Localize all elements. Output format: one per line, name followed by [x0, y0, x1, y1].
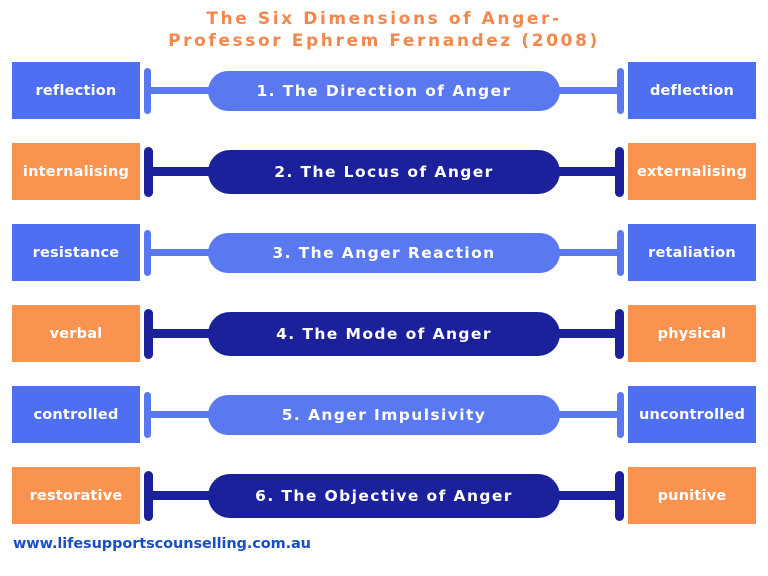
dimension-pill: 1. The Direction of Anger: [208, 71, 560, 111]
dimension-scale: 3. The Anger Reaction: [144, 224, 624, 281]
dimension-row: internalising2. The Locus of Angerextern…: [0, 143, 768, 200]
dimension-pill: 4. The Mode of Anger: [208, 312, 560, 356]
dimension-pill-label: 1. The Direction of Anger: [257, 82, 512, 100]
footer: www.lifesupportscounselling.com.au: [13, 536, 311, 552]
right-pole-box: punitive: [628, 467, 756, 524]
dimension-row: verbal4. The Mode of Angerphysical: [0, 305, 768, 362]
left-pole-label: restorative: [30, 488, 123, 504]
dimension-pill: 3. The Anger Reaction: [208, 233, 560, 273]
dimension-row: controlled5. Anger Impulsivityuncontroll…: [0, 386, 768, 443]
left-pole-box: reflection: [12, 62, 140, 119]
dimension-row: resistance3. The Anger Reactionretaliati…: [0, 224, 768, 281]
right-pole-box: externalising: [628, 143, 756, 200]
left-pole-box: controlled: [12, 386, 140, 443]
right-pole-label: physical: [658, 326, 727, 342]
title-line-2: Professor Ephrem Fernandez (2008): [0, 30, 768, 52]
right-pole-box: physical: [628, 305, 756, 362]
scale-right-endcap: [615, 147, 624, 197]
right-pole-label: uncontrolled: [639, 407, 745, 423]
scale-right-endcap: [615, 471, 624, 521]
dimension-pill: 5. Anger Impulsivity: [208, 395, 560, 435]
dimension-pill-label: 4. The Mode of Anger: [276, 325, 492, 343]
dimension-pill-label: 6. The Objective of Anger: [255, 487, 513, 505]
right-pole-label: deflection: [650, 83, 734, 99]
right-pole-box: uncontrolled: [628, 386, 756, 443]
left-pole-label: reflection: [36, 83, 117, 99]
scale-right-endcap: [617, 68, 624, 114]
dimension-pill: 6. The Objective of Anger: [208, 474, 560, 518]
dimension-scale: 5. Anger Impulsivity: [144, 386, 624, 443]
dimensions-list: reflection1. The Direction of Angerdefle…: [0, 62, 768, 548]
right-pole-label: externalising: [637, 164, 747, 180]
dimension-pill-label: 2. The Locus of Anger: [274, 163, 493, 181]
scale-right-endcap: [615, 309, 624, 359]
left-pole-box: restorative: [12, 467, 140, 524]
left-pole-label: resistance: [33, 245, 120, 261]
scale-right-endcap: [617, 392, 624, 438]
dimension-row: reflection1. The Direction of Angerdefle…: [0, 62, 768, 119]
left-pole-box: internalising: [12, 143, 140, 200]
left-pole-box: resistance: [12, 224, 140, 281]
left-pole-box: verbal: [12, 305, 140, 362]
dimension-scale: 4. The Mode of Anger: [144, 305, 624, 362]
dimension-pill-label: 5. Anger Impulsivity: [282, 406, 487, 424]
title-line-1: The Six Dimensions of Anger-: [0, 8, 768, 30]
right-pole-label: retaliation: [648, 245, 736, 261]
dimension-scale: 6. The Objective of Anger: [144, 467, 624, 524]
website-url: www.lifesupportscounselling.com.au: [13, 536, 311, 552]
dimension-row: restorative6. The Objective of Angerpuni…: [0, 467, 768, 524]
scale-right-endcap: [617, 230, 624, 276]
dimension-pill: 2. The Locus of Anger: [208, 150, 560, 194]
right-pole-box: retaliation: [628, 224, 756, 281]
dimension-scale: 2. The Locus of Anger: [144, 143, 624, 200]
dimension-pill-label: 3. The Anger Reaction: [272, 244, 495, 262]
left-pole-label: internalising: [23, 164, 129, 180]
dimension-scale: 1. The Direction of Anger: [144, 62, 624, 119]
left-pole-label: controlled: [33, 407, 118, 423]
page-title: The Six Dimensions of Anger- Professor E…: [0, 8, 768, 52]
right-pole-label: punitive: [658, 488, 727, 504]
left-pole-label: verbal: [50, 326, 103, 342]
right-pole-box: deflection: [628, 62, 756, 119]
